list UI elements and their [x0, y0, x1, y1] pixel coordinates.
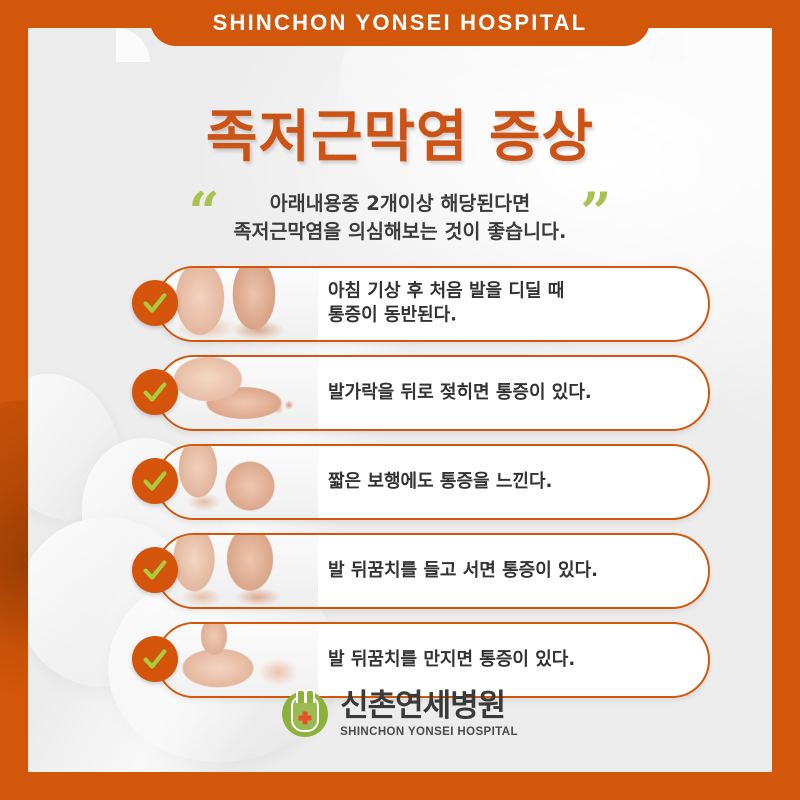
page-title-text: 족저근막염 증상 — [206, 92, 594, 173]
symptom-pill[interactable]: 아침 기상 후 처음 발을 디딜 때 통증이 동반된다. — [156, 266, 710, 342]
symptom-pill[interactable]: 발 뒤꿈치를 만지면 통증이 있다. — [156, 622, 710, 698]
symptom-text: 짧은 보행에도 통증을 느낀다. — [328, 470, 692, 494]
toes-bent-photo — [158, 357, 318, 429]
subtitle-text: 아래내용중 2개이상 해당된다면 족저근막염을 의심해보는 것이 좋습니다. — [234, 188, 567, 247]
hand-cross-logo-icon — [282, 691, 328, 737]
feet-standing-photo — [158, 268, 318, 340]
check-icon — [132, 369, 178, 415]
poster-page: 족저근막염 증상 “ 아래내용중 2개이상 해당된다면 족저근막염을 의심해보는… — [28, 28, 772, 772]
list-item[interactable]: 발 뒤꿈치를 들고 서면 통증이 있다. — [28, 533, 772, 613]
hospital-name-ko: 신촌연세병원 — [340, 691, 518, 722]
touching-heel-photo — [158, 624, 318, 696]
heels-raised-photo — [158, 535, 318, 607]
symptom-pill[interactable]: 발가락을 뒤로 젖히면 통증이 있다. — [156, 355, 710, 431]
poster-root: 족저근막염 증상 “ 아래내용중 2개이상 해당된다면 족저근막염을 의심해보는… — [0, 0, 800, 800]
symptom-pill[interactable]: 발 뒤꿈치를 들고 서면 통증이 있다. — [156, 533, 710, 609]
close-quote-icon: ” — [580, 192, 611, 233]
symptom-text: 발가락을 뒤로 젖히면 통증이 있다. — [328, 381, 692, 405]
check-icon — [132, 280, 178, 326]
check-icon — [132, 547, 178, 593]
subtitle-block: “ 아래내용중 2개이상 해당된다면 족저근막염을 의심해보는 것이 좋습니다.… — [28, 188, 772, 247]
list-item[interactable]: 발가락을 뒤로 젖히면 통증이 있다. — [28, 355, 772, 435]
list-item[interactable]: 짧은 보행에도 통증을 느낀다. — [28, 444, 772, 524]
symptom-text: 아침 기상 후 처음 발을 디딜 때 통증이 동반된다. — [328, 280, 692, 329]
page-title: 족저근막염 증상 — [28, 92, 772, 173]
symptom-pill[interactable]: 짧은 보행에도 통증을 느낀다. — [156, 444, 710, 520]
symptom-list: 아침 기상 후 처음 발을 디딜 때 통증이 동반된다. 발가락을 뒤로 젖히면… — [28, 266, 772, 711]
list-item[interactable]: 아침 기상 후 처음 발을 디딜 때 통증이 동반된다. — [28, 266, 772, 346]
header-banner: SHINCHON YONSEI HOSPITAL — [150, 0, 650, 46]
check-icon — [132, 458, 178, 504]
bare-feet-photo — [158, 446, 318, 518]
footer-logo: 신촌연세병원 SHINCHON YONSEI HOSPITAL — [28, 691, 772, 739]
symptom-text: 발 뒤꿈치를 만지면 통증이 있다. — [328, 648, 692, 672]
header-banner-label: SHINCHON YONSEI HOSPITAL — [213, 10, 588, 36]
check-icon — [132, 636, 178, 682]
symptom-text: 발 뒤꿈치를 들고 서면 통증이 있다. — [328, 559, 692, 583]
open-quote-icon: “ — [189, 192, 220, 233]
hospital-name-en: SHINCHON YONSEI HOSPITAL — [340, 727, 518, 739]
